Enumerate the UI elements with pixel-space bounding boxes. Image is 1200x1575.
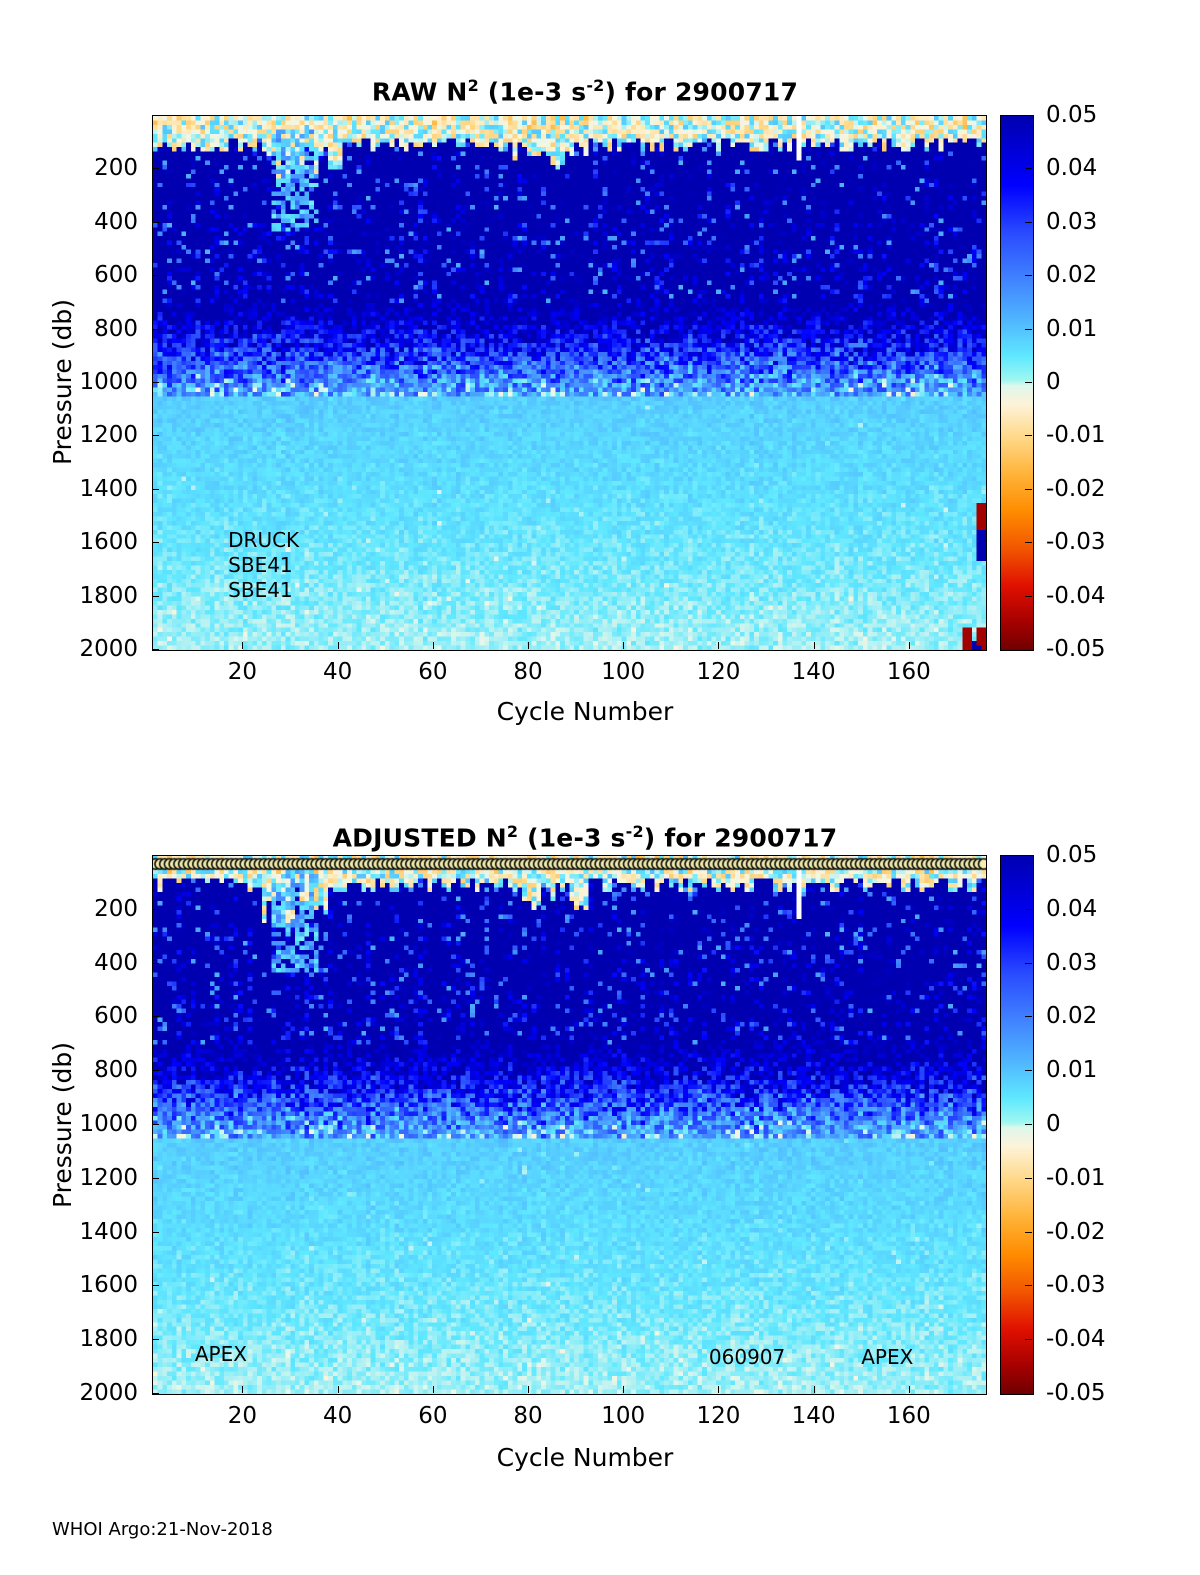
figure-footer: WHOI Argo:21-Nov-2018 xyxy=(52,1519,273,1540)
raw-x-tick-160: 160 xyxy=(874,659,944,685)
adjusted-x-tickmark-100 xyxy=(623,1386,624,1393)
raw-colorbar-tickmark-4 xyxy=(1025,329,1032,330)
adjusted-y-tick-1800: 1800 xyxy=(48,1326,138,1352)
adjusted-x-tickmark-20 xyxy=(242,1386,243,1393)
raw-y-tickmark-1400 xyxy=(152,489,159,490)
adjusted-x-tickmark-80 xyxy=(528,1386,529,1393)
adjusted-y-tick-2000: 2000 xyxy=(48,1380,138,1406)
raw-x-tick-100: 100 xyxy=(588,659,658,685)
adjusted-colorbar-tickmark-3 xyxy=(1025,1016,1032,1017)
raw-x-tickmark-40 xyxy=(338,642,339,649)
panel-adjusted-title: ADJUSTED N2 (1e-3 s-2) for 2900717 xyxy=(150,822,1020,852)
raw-y-tickmark-1800 xyxy=(152,596,159,597)
raw-colorbar-tick-7: -0.02 xyxy=(1046,476,1106,502)
adjusted-y-tick-200: 200 xyxy=(48,896,138,922)
raw-x-tickmark-100 xyxy=(623,642,624,649)
raw-y-tick-1200: 1200 xyxy=(48,422,138,448)
adjusted-colorbar-tick-4: 0.01 xyxy=(1046,1057,1097,1083)
adjusted-colorbar-tickmark-1 xyxy=(1025,909,1032,910)
adjusted-colorbar-tick-7: -0.02 xyxy=(1046,1219,1106,1245)
raw-colorbar-tickmark-5 xyxy=(1025,382,1032,383)
adjusted-x-tickmark-140 xyxy=(814,1386,815,1393)
adjusted-x-tick-100: 100 xyxy=(588,1403,658,1429)
raw-y-tick-2000: 2000 xyxy=(48,636,138,662)
raw-colorbar-tickmark-1 xyxy=(1025,168,1032,169)
adjusted-colorbar-tick-6: -0.01 xyxy=(1046,1165,1106,1191)
panel-adjusted-title-mid: (1e-3 s xyxy=(518,823,625,852)
adjusted-annotation-1: 060907 xyxy=(709,1345,785,1369)
panel-raw-title-prefix: RAW N xyxy=(372,77,468,106)
raw-colorbar-tickmark-2 xyxy=(1025,222,1032,223)
adjusted-y-tickmark-1600 xyxy=(152,1285,159,1286)
raw-colorbar-tick-1: 0.04 xyxy=(1046,155,1097,181)
adjusted-colorbar-tickmark-2 xyxy=(1025,963,1032,964)
raw-colorbar-tick-0: 0.05 xyxy=(1046,102,1097,128)
raw-x-axis-label: Cycle Number xyxy=(150,697,1020,726)
raw-x-tickmark-160 xyxy=(909,642,910,649)
raw-colorbar[interactable] xyxy=(1000,115,1034,651)
panel-raw-title: RAW N2 (1e-3 s-2) for 2900717 xyxy=(150,76,1020,106)
raw-colorbar-tick-3: 0.02 xyxy=(1046,262,1097,288)
adjusted-y-tick-1200: 1200 xyxy=(48,1165,138,1191)
adjusted-y-tickmark-1000 xyxy=(152,1124,159,1125)
panel-raw-title-suffix: ) for 2900717 xyxy=(605,77,799,106)
adjusted-x-tick-40: 40 xyxy=(303,1403,373,1429)
panel-adjusted: ADJUSTED N2 (1e-3 s-2) for 2900717 Press… xyxy=(0,740,1200,1520)
adjusted-colorbar-tickmark-6 xyxy=(1025,1178,1032,1179)
adjusted-y-tick-1000: 1000 xyxy=(48,1111,138,1137)
adjusted-annotation-0: APEX xyxy=(195,1342,247,1366)
adjusted-y-tickmark-1200 xyxy=(152,1178,159,1179)
adjusted-y-tick-1600: 1600 xyxy=(48,1272,138,1298)
adjusted-colorbar-tickmark-8 xyxy=(1025,1285,1032,1286)
adjusted-colorbar-tick-2: 0.03 xyxy=(1046,950,1097,976)
adjusted-x-tick-120: 120 xyxy=(683,1403,753,1429)
adjusted-colorbar-tick-10: -0.05 xyxy=(1046,1380,1106,1406)
raw-colorbar-tick-9: -0.04 xyxy=(1046,583,1106,609)
adjusted-y-tickmark-800 xyxy=(152,1070,159,1071)
raw-y-tick-400: 400 xyxy=(48,209,138,235)
raw-y-tickmark-2000 xyxy=(152,649,159,650)
adjusted-x-tick-80: 80 xyxy=(493,1403,563,1429)
raw-annotation-1: SBE41 xyxy=(228,553,293,577)
raw-y-tick-1800: 1800 xyxy=(48,583,138,609)
raw-y-tickmark-1200 xyxy=(152,435,159,436)
raw-x-tick-40: 40 xyxy=(303,659,373,685)
adjusted-colorbar-tick-3: 0.02 xyxy=(1046,1003,1097,1029)
raw-y-tickmark-1600 xyxy=(152,542,159,543)
adjusted-annotation-2: APEX xyxy=(861,1345,913,1369)
raw-annotation-0: DRUCK xyxy=(228,528,299,552)
adjusted-y-tickmark-1400 xyxy=(152,1232,159,1233)
raw-y-tick-600: 600 xyxy=(48,262,138,288)
adjusted-colorbar-tick-9: -0.04 xyxy=(1046,1326,1106,1352)
adjusted-heatmap xyxy=(153,856,986,1394)
adjusted-y-tickmark-1800 xyxy=(152,1339,159,1340)
panel-raw-title-mid: (1e-3 s xyxy=(479,77,586,106)
raw-x-tickmark-60 xyxy=(433,642,434,649)
raw-annotation-2: SBE41 xyxy=(228,578,293,602)
adjusted-colorbar-tickmark-9 xyxy=(1025,1339,1032,1340)
raw-y-tick-800: 800 xyxy=(48,316,138,342)
raw-y-tickmark-600 xyxy=(152,275,159,276)
adjusted-x-tick-140: 140 xyxy=(779,1403,849,1429)
adjusted-colorbar-tick-5: 0 xyxy=(1046,1111,1061,1137)
adjusted-colorbar-tick-0: 0.05 xyxy=(1046,842,1097,868)
raw-x-tickmark-80 xyxy=(528,642,529,649)
raw-colorbar-tick-2: 0.03 xyxy=(1046,209,1097,235)
raw-x-tickmark-120 xyxy=(718,642,719,649)
adjusted-y-tickmark-2000 xyxy=(152,1393,159,1394)
raw-x-tick-80: 80 xyxy=(493,659,563,685)
adjusted-y-tick-400: 400 xyxy=(48,950,138,976)
raw-y-tickmark-200 xyxy=(152,168,159,169)
raw-colorbar-tick-5: 0 xyxy=(1046,369,1061,395)
raw-y-tick-1400: 1400 xyxy=(48,476,138,502)
panel-adjusted-title-sup1: 2 xyxy=(507,822,518,841)
panel-raw: RAW N2 (1e-3 s-2) for 2900717 Pressure (… xyxy=(0,0,1200,760)
adjusted-x-tickmark-120 xyxy=(718,1386,719,1393)
adjusted-colorbar-tickmark-4 xyxy=(1025,1070,1032,1071)
adjusted-y-tickmark-600 xyxy=(152,1016,159,1017)
raw-x-tick-140: 140 xyxy=(779,659,849,685)
adjusted-y-tick-600: 600 xyxy=(48,1003,138,1029)
adjusted-y-tickmark-400 xyxy=(152,963,159,964)
adjusted-colorbar[interactable] xyxy=(1000,855,1034,1395)
adjusted-x-axis-label: Cycle Number xyxy=(150,1443,1020,1472)
raw-x-tickmark-20 xyxy=(242,642,243,649)
adjusted-y-tick-800: 800 xyxy=(48,1057,138,1083)
raw-y-tick-1600: 1600 xyxy=(48,529,138,555)
raw-colorbar-tick-6: -0.01 xyxy=(1046,422,1106,448)
adjusted-x-tickmark-40 xyxy=(338,1386,339,1393)
panel-raw-title-sup1: 2 xyxy=(468,76,479,95)
raw-colorbar-tickmark-6 xyxy=(1025,435,1032,436)
adjusted-y-tick-1400: 1400 xyxy=(48,1219,138,1245)
adjusted-x-tick-60: 60 xyxy=(398,1403,468,1429)
adjusted-x-tick-20: 20 xyxy=(207,1403,277,1429)
raw-x-tick-120: 120 xyxy=(683,659,753,685)
raw-y-tickmark-800 xyxy=(152,329,159,330)
raw-colorbar-tickmark-8 xyxy=(1025,542,1032,543)
raw-colorbar-tickmark-9 xyxy=(1025,596,1032,597)
panel-raw-title-sup2: -2 xyxy=(586,76,604,95)
raw-colorbar-tick-8: -0.03 xyxy=(1046,529,1106,555)
raw-colorbar-tickmark-3 xyxy=(1025,275,1032,276)
adjusted-colorbar-tick-8: -0.03 xyxy=(1046,1272,1106,1298)
adjusted-x-tickmark-60 xyxy=(433,1386,434,1393)
raw-colorbar-tickmark-7 xyxy=(1025,489,1032,490)
raw-colorbar-tick-4: 0.01 xyxy=(1046,316,1097,342)
adjusted-plot-area[interactable] xyxy=(152,855,987,1395)
raw-colorbar-tick-10: -0.05 xyxy=(1046,636,1106,662)
panel-adjusted-title-sup2: -2 xyxy=(626,822,644,841)
adjusted-x-tick-160: 160 xyxy=(874,1403,944,1429)
raw-y-tickmark-400 xyxy=(152,222,159,223)
adjusted-x-tickmark-160 xyxy=(909,1386,910,1393)
panel-adjusted-title-prefix: ADJUSTED N xyxy=(333,823,507,852)
adjusted-y-tickmark-200 xyxy=(152,909,159,910)
raw-y-tick-200: 200 xyxy=(48,155,138,181)
raw-x-tickmark-140 xyxy=(814,642,815,649)
raw-x-tick-20: 20 xyxy=(207,659,277,685)
panel-adjusted-title-suffix: ) for 2900717 xyxy=(644,823,838,852)
raw-y-tick-1000: 1000 xyxy=(48,369,138,395)
adjusted-colorbar-tickmark-7 xyxy=(1025,1232,1032,1233)
adjusted-colorbar-tick-1: 0.04 xyxy=(1046,896,1097,922)
adjusted-colorbar-tickmark-5 xyxy=(1025,1124,1032,1125)
raw-x-tick-60: 60 xyxy=(398,659,468,685)
raw-y-tickmark-1000 xyxy=(152,382,159,383)
